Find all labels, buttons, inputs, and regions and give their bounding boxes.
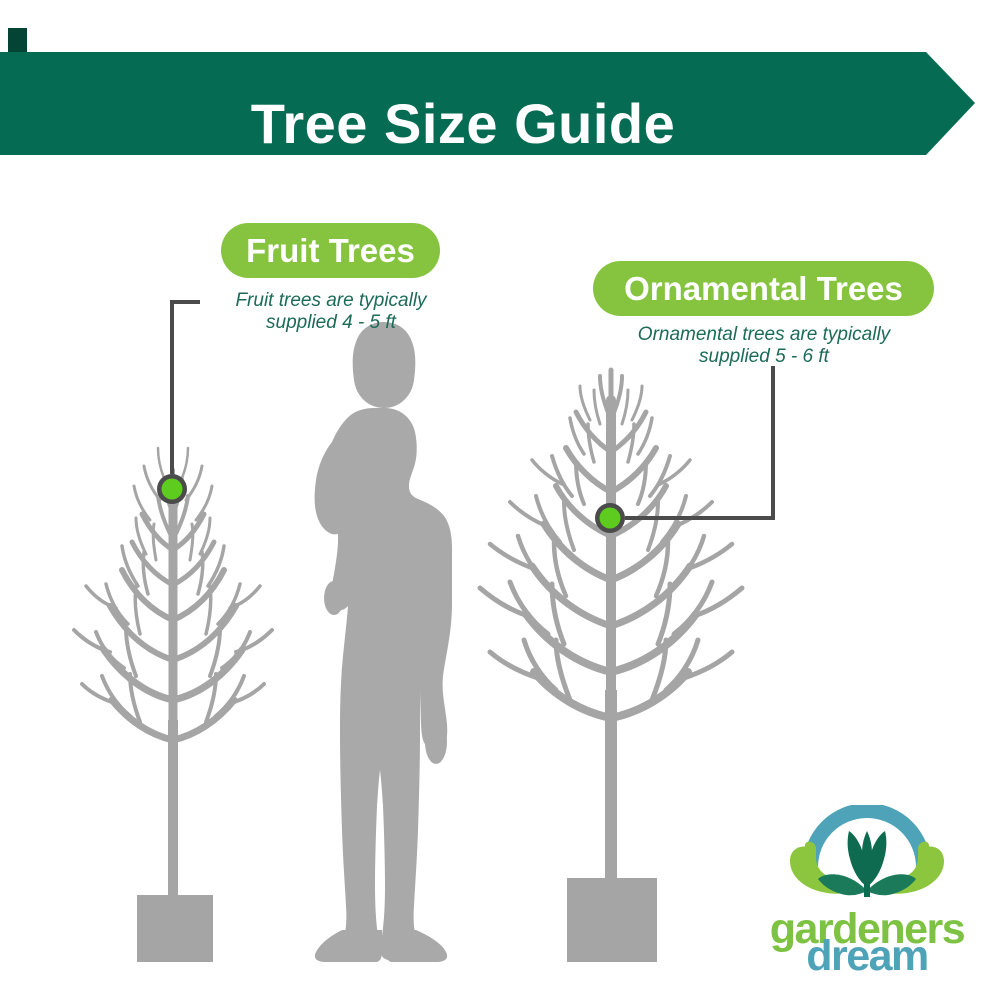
- ornamental-caption-line-2: supplied 5 - 6 ft: [610, 346, 918, 368]
- ornamental-trees-caption: Ornamental trees are typically supplied …: [610, 324, 918, 368]
- fruit-trees-caption: Fruit trees are typically supplied 4 - 5…: [190, 290, 472, 334]
- ornamental-trees-label-text: Ornamental Trees: [624, 270, 903, 308]
- fruit-trees-label-text: Fruit Trees: [246, 232, 415, 270]
- logo-word-dream: dream: [748, 932, 986, 981]
- fruit-caption-line-2: supplied 4 - 5 ft: [190, 312, 472, 334]
- infographic-canvas: Tree Size Guide: [0, 0, 1000, 1000]
- ornamental-trees-label-pill[interactable]: Ornamental Trees: [593, 261, 934, 316]
- ornamental-caption-line-1: Ornamental trees are typically: [610, 324, 918, 346]
- ornamental-tree-marker[interactable]: [595, 503, 625, 533]
- fruit-tree-marker[interactable]: [157, 474, 187, 504]
- fruit-caption-line-1: Fruit trees are typically: [190, 290, 472, 312]
- brand-logo[interactable]: gardeners dream: [748, 805, 986, 977]
- hands-holding-plant-logo-icon: [748, 805, 986, 905]
- ornamental-leader-line: [625, 366, 773, 518]
- fruit-trees-label-pill[interactable]: Fruit Trees: [221, 223, 440, 278]
